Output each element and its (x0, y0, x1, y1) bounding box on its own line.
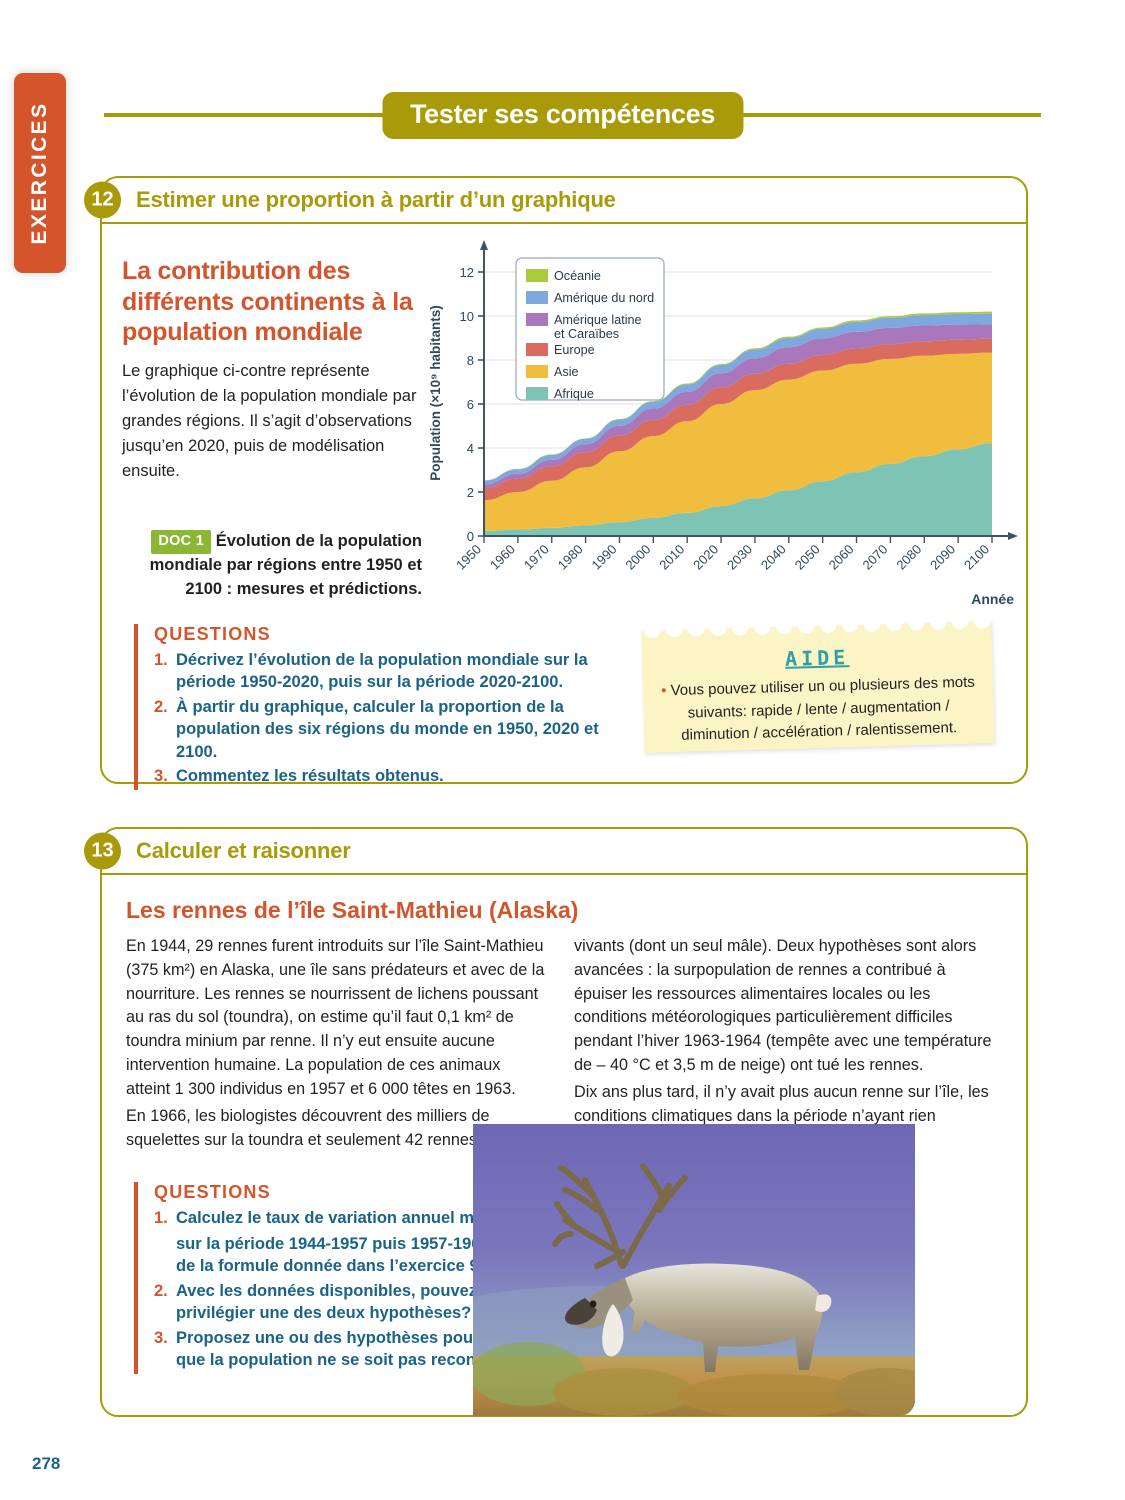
question-item: 2. À partir du graphique, calculer la pr… (154, 696, 634, 763)
svg-text:1980: 1980 (555, 542, 586, 573)
question-number: 3. (154, 765, 176, 787)
aide-text: Vous pouvez utiliser un ou plusieurs des… (670, 674, 975, 744)
svg-text:Amérique du nord: Amérique du nord (554, 291, 654, 305)
page-title: Tester ses compétences (382, 92, 743, 139)
reindeer-photo (473, 1124, 915, 1416)
doc-badge: DOC 1 (151, 530, 211, 554)
population-area-chart: 0246810121950196019701980199020002010202… (420, 238, 1020, 618)
svg-text:Afrique: Afrique (554, 387, 594, 401)
svg-text:2080: 2080 (893, 542, 924, 573)
svg-text:Amérique latine: Amérique latine (554, 313, 642, 327)
exercise-13-title: Calculer et raisonner (136, 838, 351, 864)
bullet-icon: • (661, 682, 667, 699)
svg-text:Océanie: Océanie (554, 269, 601, 283)
svg-text:2000: 2000 (622, 542, 653, 573)
reindeer-photo-image (473, 1124, 915, 1416)
exercise-12-number: 12 (84, 182, 121, 219)
question-number: 1. (154, 649, 176, 671)
svg-text:1990: 1990 (589, 542, 620, 573)
svg-text:1970: 1970 (521, 542, 552, 573)
question-number: 1. (154, 1207, 176, 1229)
paragraph: vivants (dont un seul mâle). Deux hypoth… (574, 935, 994, 1078)
svg-text:2: 2 (467, 485, 474, 500)
question-text: Commentez les résultats obtenus. (176, 765, 634, 787)
question-text: Décrivez l’évolution de la population mo… (176, 649, 634, 694)
section-tab-exercices: EXERCICES (14, 73, 66, 273)
svg-text:2100: 2100 (961, 542, 992, 573)
aide-title-text: AIDE (785, 645, 850, 671)
svg-text:1960: 1960 (487, 542, 518, 573)
page-root: EXERCICES Tester ses compétences 12 Esti… (0, 0, 1125, 1500)
exercise-12-lead-paragraph: Le graphique ci-contre représente l’évol… (122, 359, 422, 484)
aide-body: • Vous pouvez utiliser un ou plusieurs d… (655, 671, 983, 748)
section-tab-label: EXERCICES (28, 102, 52, 245)
exercise-12-left-column: La contribution des différents continent… (122, 256, 422, 602)
exercise-13-lead-title: Les rennes de l’île Saint-Mathieu (Alask… (126, 897, 578, 924)
question-item: 1. Décrivez l’évolution de la population… (154, 649, 634, 694)
svg-text:2090: 2090 (927, 542, 958, 573)
svg-text:8: 8 (467, 353, 474, 368)
svg-text:Population (×10⁹ habitants): Population (×10⁹ habitants) (428, 305, 443, 481)
question-number: 2. (154, 696, 176, 718)
exercise-13-number: 13 (84, 833, 121, 870)
question-number: 2. (154, 1280, 176, 1302)
svg-text:2040: 2040 (758, 542, 789, 573)
page-number: 278 (32, 1454, 60, 1474)
svg-text:Année: Année (971, 591, 1014, 607)
svg-text:Europe: Europe (554, 343, 595, 357)
svg-text:4: 4 (467, 441, 474, 456)
exercise-13-column-a: En 1944, 29 rennes furent introduits sur… (126, 935, 546, 1152)
svg-text:2030: 2030 (724, 542, 755, 573)
svg-text:et Caraïbes: et Caraïbes (554, 327, 619, 341)
svg-text:Asie: Asie (554, 365, 579, 379)
svg-text:10: 10 (460, 309, 474, 324)
svg-text:6: 6 (467, 397, 474, 412)
question-number: 3. (154, 1327, 176, 1349)
paragraph: En 1944, 29 rennes furent introduits sur… (126, 935, 546, 1102)
svg-text:2010: 2010 (656, 542, 687, 573)
exercise-13-column-b: vivants (dont un seul mâle). Deux hypoth… (574, 935, 994, 1152)
question-text: À partir du graphique, calculer la propo… (176, 696, 634, 763)
chart-canvas: 0246810121950196019701980199020002010202… (420, 238, 1020, 618)
exercise-13-header: 13 Calculer et raisonner (102, 829, 1026, 875)
aide-note: AIDE • Vous pouvez utiliser un ou plusie… (641, 621, 994, 753)
exercise-12-questions: QUESTIONS 1. Décrivez l’évolution de la … (134, 624, 634, 790)
questions-label-12: QUESTIONS (154, 624, 634, 645)
doc-caption: DOC 1 Évolution de la population mondial… (122, 530, 422, 602)
exercise-12-title: Estimer une proportion à partir d’un gra… (136, 187, 616, 213)
exercise-12-lead-title: La contribution des différents continent… (122, 256, 422, 348)
svg-text:2060: 2060 (826, 542, 857, 573)
svg-text:12: 12 (460, 265, 474, 280)
svg-text:1950: 1950 (453, 542, 484, 573)
exercise-12-header: 12 Estimer une proportion à partir d’un … (102, 178, 1026, 224)
question-item: 3. Commentez les résultats obtenus. (154, 765, 634, 787)
svg-text:2050: 2050 (792, 542, 823, 573)
aide-title: AIDE (642, 641, 993, 675)
svg-text:2020: 2020 (690, 542, 721, 573)
svg-text:2070: 2070 (859, 542, 890, 573)
